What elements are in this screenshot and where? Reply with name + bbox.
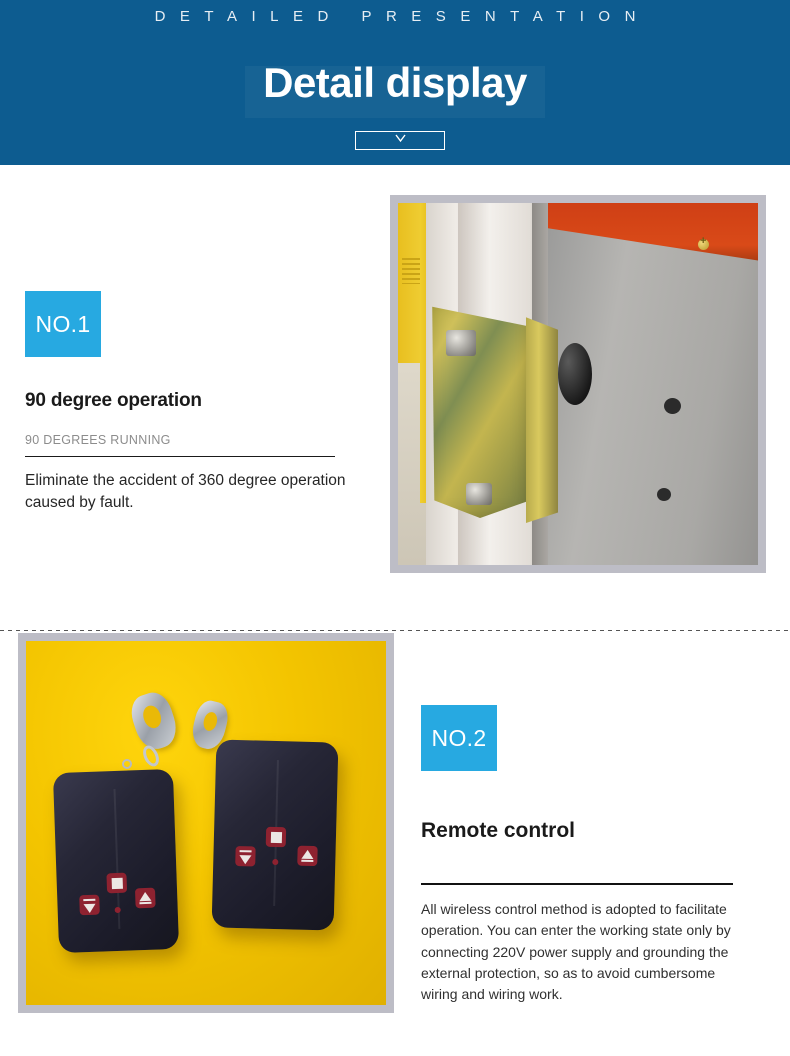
photo2-left-up-button [135,888,156,909]
photo1-hole-lower [657,488,671,501]
feature-1-photo [398,203,758,565]
banner-eyebrow-text: DETAILED PRESENTATION [0,8,790,25]
feature-1-body: Eliminate the accident of 360 degree ope… [25,470,355,514]
feature-2-badge: NO.2 [421,705,497,771]
feature-section-1: NO.1 90 degree operation 90 DEGREES RUNN… [0,165,790,630]
photo2-left-down-button [79,895,100,916]
photo2-right-up-button [297,846,318,867]
photo2-right-led [272,859,278,865]
photo2-key-ring [122,759,132,769]
photo2-right-down-button [235,846,256,867]
feature-2-photo [26,641,386,1005]
page-header-banner: DETAILED PRESENTATION Detail display [0,0,790,165]
feature-2-text-block: NO.2 Remote control All wireless control… [421,705,756,1005]
photo2-right-stop-button [266,827,287,848]
feature-2-photo-frame [18,633,394,1013]
chevron-down-icon [395,133,406,144]
photo2-left-led [115,907,121,913]
scroll-down-button[interactable] [355,131,445,150]
photo1-rubber-bumper [558,343,592,405]
feature-1-badge: NO.1 [25,291,101,357]
feature-1-text-block: NO.1 90 degree operation 90 DEGREES RUNN… [25,291,365,514]
banner-title-wrap: Detail display [0,62,790,104]
feature-1-photo-frame [390,195,766,573]
photo2-left-stop-button [106,873,127,894]
feature-1-subtitle: 90 DEGREES RUNNING [25,433,365,447]
page-title: Detail display [263,62,527,104]
feature-1-divider-rule [25,456,335,457]
photo1-bolt-upper [446,330,476,356]
photo1-screw [698,239,709,250]
feature-2-body: All wireless control method is adopted t… [421,899,746,1005]
photo2-remote-right [212,739,339,930]
photo1-hole-upper [664,398,681,414]
photo1-zinc-bracket-edge [526,313,558,523]
photo2-remote-left [53,769,179,953]
feature-2-title: Remote control [421,819,756,843]
feature-section-2: NO.2 Remote control All wireless control… [0,630,790,1056]
feature-2-divider-rule [421,883,733,885]
photo1-bolt-lower [466,483,492,505]
feature-1-title: 90 degree operation [25,390,365,412]
